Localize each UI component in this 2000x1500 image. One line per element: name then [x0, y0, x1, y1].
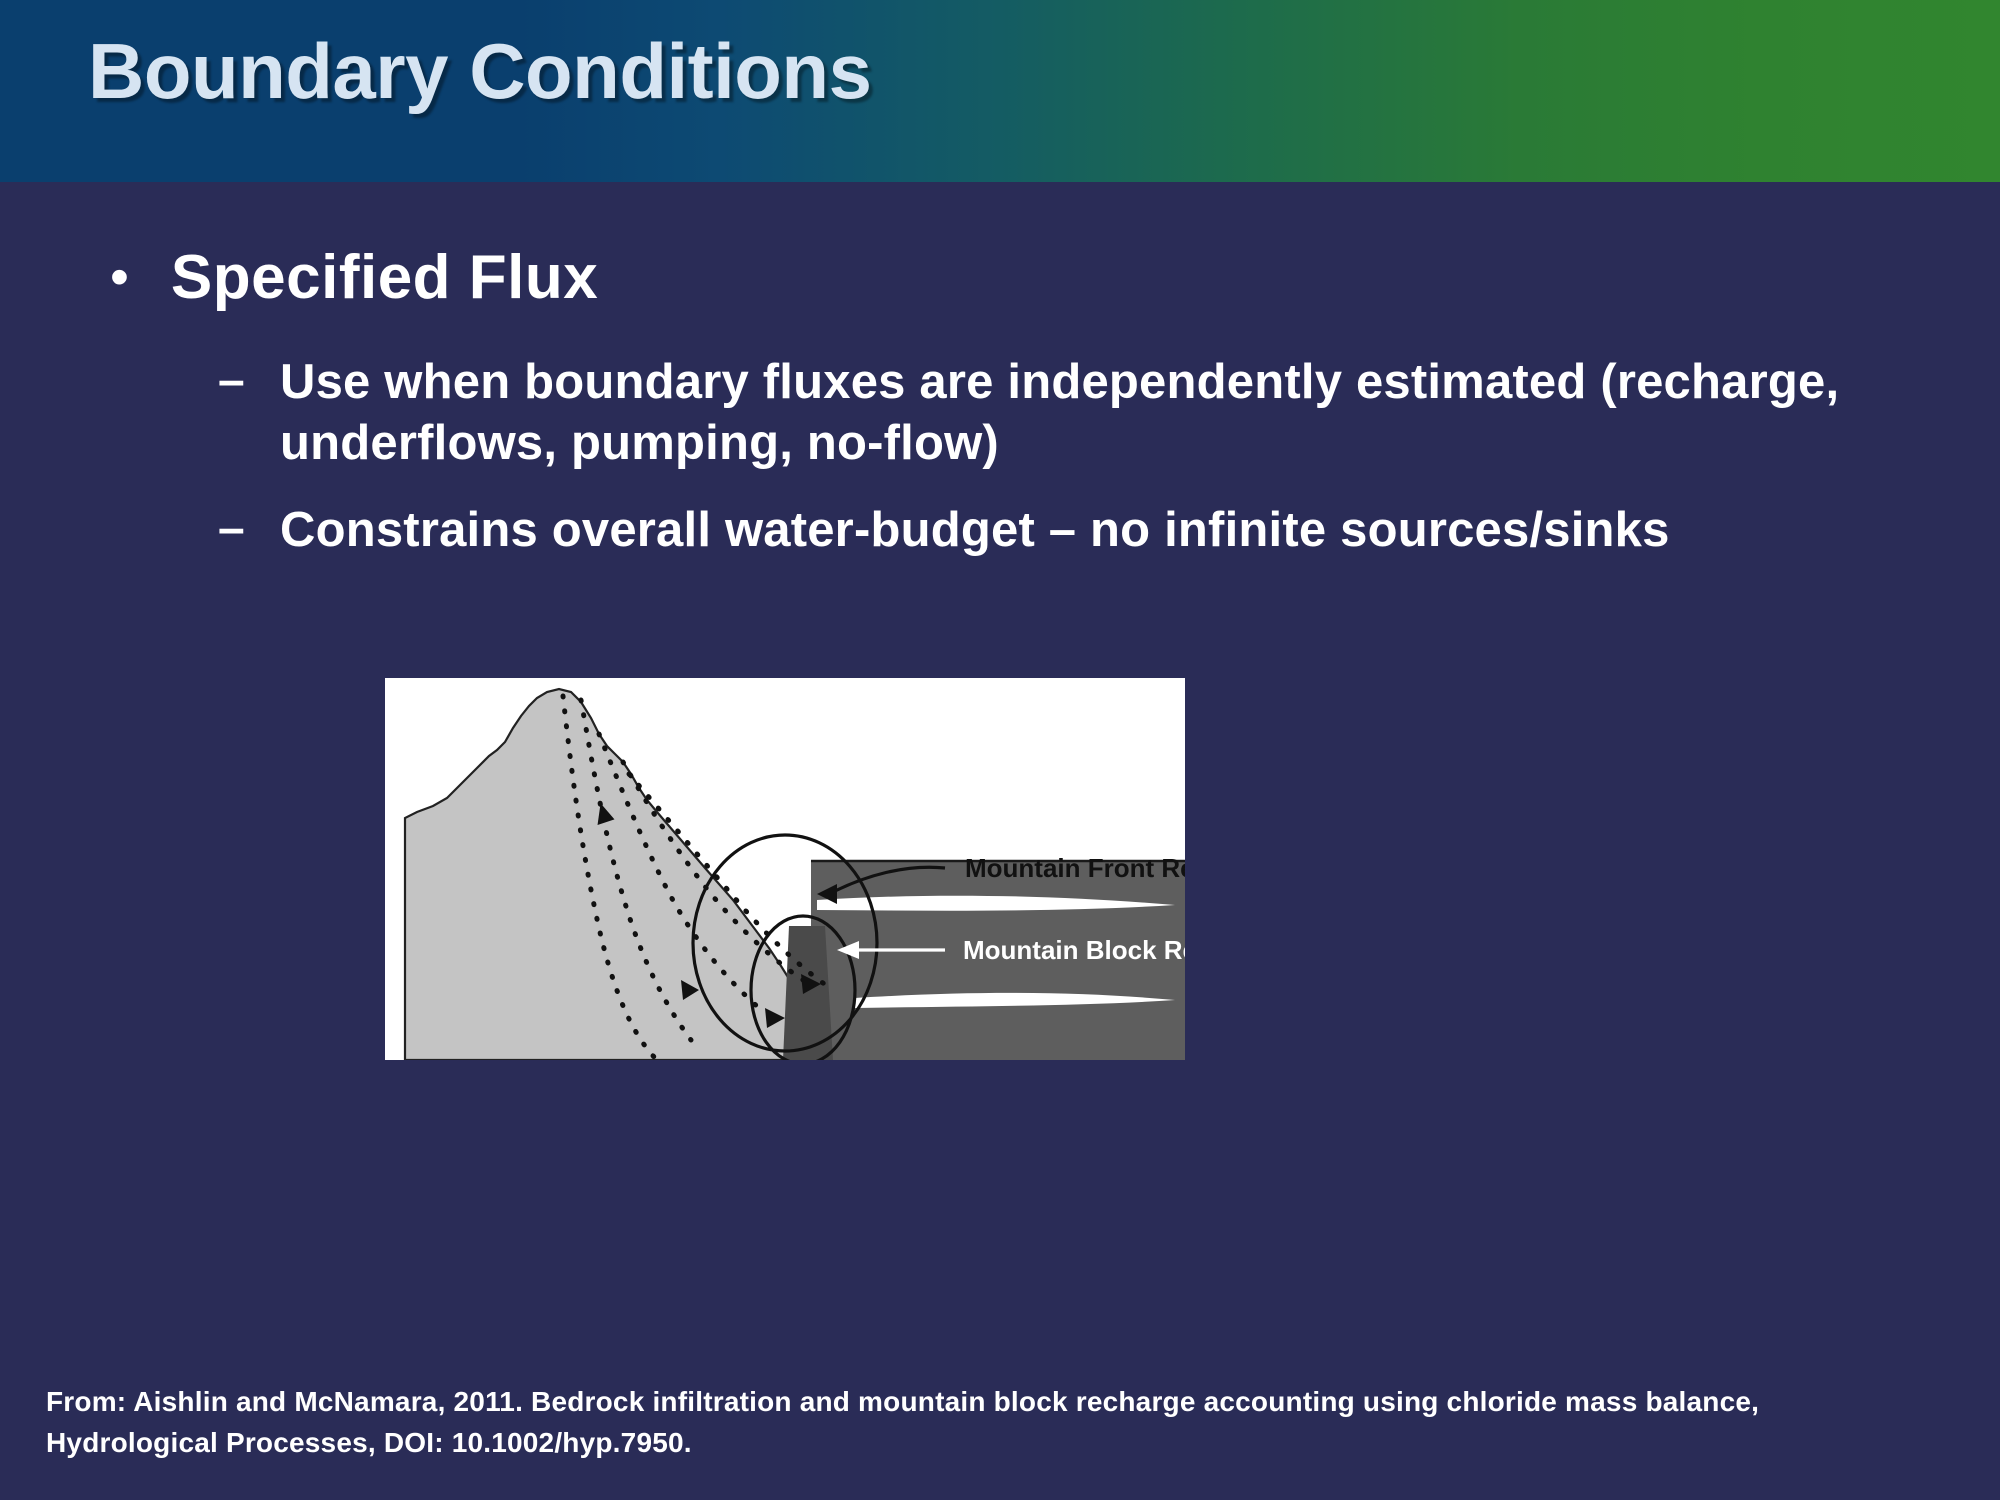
sub-bullet-list: – Use when boundary fluxes are independe… — [218, 352, 1958, 586]
dash-marker-icon: – — [218, 352, 280, 411]
sub-bullet-label: Constrains overall water-budget – no inf… — [280, 500, 1670, 561]
sub-bullet-item: – Use when boundary fluxes are independe… — [218, 352, 1958, 474]
citation-line-2: Hydrological Processes, DOI: 10.1002/hyp… — [46, 1423, 1946, 1464]
bullet-specified-flux: • Specified Flux — [110, 242, 598, 313]
citation: From: Aishlin and McNamara, 2011. Bedroc… — [46, 1382, 1946, 1463]
figure-label-mountain-front-recharge: Mountain Front Recharge — [965, 853, 1185, 883]
dash-marker-icon: – — [218, 500, 280, 559]
citation-line-1: From: Aishlin and McNamara, 2011. Bedroc… — [46, 1382, 1946, 1423]
sub-bullet-item: – Constrains overall water-budget – no i… — [218, 500, 1958, 561]
page-title: Boundary Conditions — [88, 26, 871, 117]
sub-bullet-label: Use when boundary fluxes are independent… — [280, 352, 1920, 474]
figure-label-mountain-block-recharge: Mountain Block Recharge — [963, 935, 1185, 965]
mountain-recharge-figure: Mountain Front Recharge Mountain Block R… — [385, 678, 1185, 1060]
bullet-dot-icon: • — [110, 242, 129, 304]
header-band: Boundary Conditions — [0, 0, 2000, 182]
bullet-level1-label: Specified Flux — [171, 242, 598, 313]
slide: Boundary Conditions • Specified Flux – U… — [0, 0, 2000, 1500]
